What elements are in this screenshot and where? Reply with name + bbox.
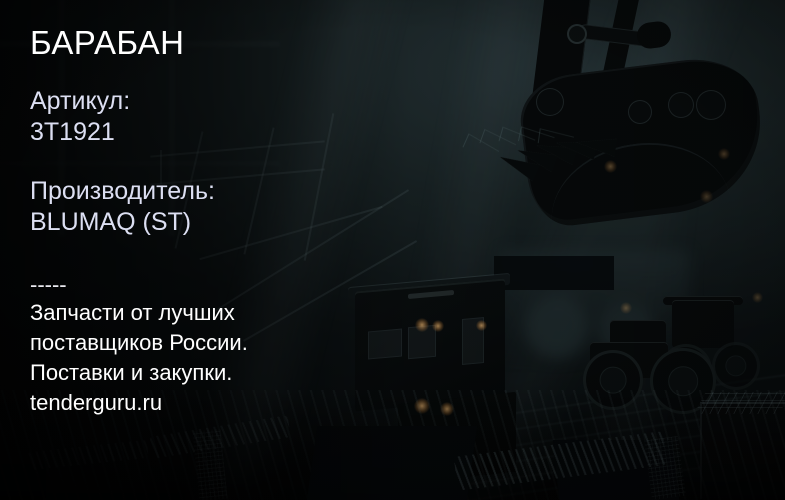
product-card: БАРАБАН Артикул: 3T1921 Производитель: B… <box>0 0 785 500</box>
promo-line-3: Поставки и закупки. <box>30 358 248 388</box>
promo-site-url: tenderguru.ru <box>30 388 248 418</box>
promo-block: ----- Запчасти от лучших поставщиков Рос… <box>30 272 248 418</box>
page-title: БАРАБАН <box>30 26 184 59</box>
card-content: БАРАБАН Артикул: 3T1921 Производитель: B… <box>30 0 460 500</box>
promo-line-1: Запчасти от лучших <box>30 298 248 328</box>
promo-separator: ----- <box>30 272 248 298</box>
article-label: Артикул: <box>30 86 130 117</box>
article-value: 3T1921 <box>30 117 130 148</box>
manufacturer-label: Производитель: <box>30 176 215 207</box>
manufacturer-value: BLUMAQ (ST) <box>30 207 215 238</box>
manufacturer-block: Производитель: BLUMAQ (ST) <box>30 176 215 238</box>
promo-line-2: поставщиков России. <box>30 328 248 358</box>
article-block: Артикул: 3T1921 <box>30 86 130 148</box>
